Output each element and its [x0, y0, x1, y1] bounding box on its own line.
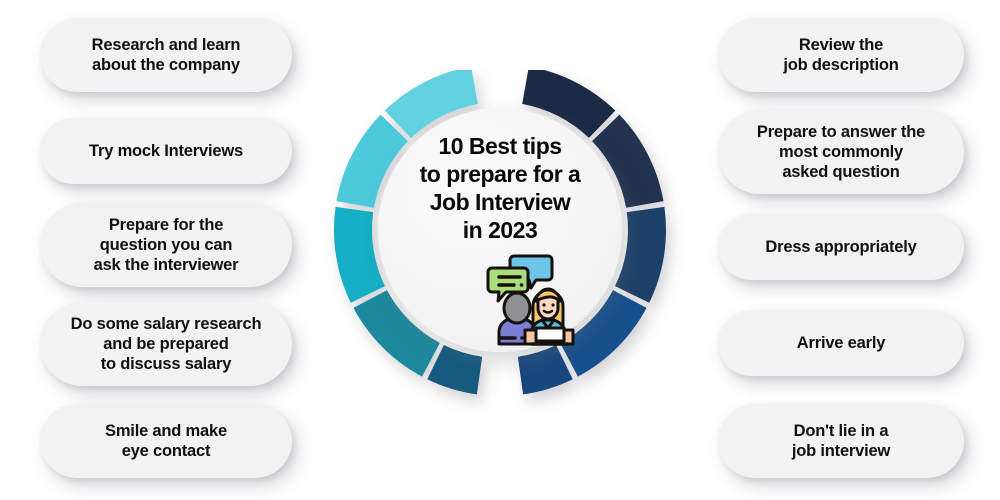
infographic-canvas: Research and learn about the company Try… [0, 0, 1000, 500]
ring-segment-6 [518, 345, 573, 394]
title-line-1: 10 Best tips [378, 132, 622, 160]
interviewer-head [504, 293, 530, 323]
tip-label: Smile and make eye contact [105, 421, 227, 462]
tip-card-left-5[interactable]: Smile and make eye contact [40, 404, 292, 478]
tip-label: Research and learn about the company [92, 35, 241, 76]
tip-label: Try mock Interviews [89, 141, 243, 161]
title-line-4: in 2023 [378, 216, 622, 244]
tip-label: Do some salary research and be prepared … [71, 314, 262, 375]
tip-label: Dress appropriately [765, 237, 916, 257]
tip-card-right-3[interactable]: Dress appropriately [718, 214, 964, 280]
title-line-2: to prepare for a [378, 160, 622, 188]
tip-card-left-4[interactable]: Do some salary research and be prepared … [40, 302, 292, 386]
tip-card-left-1[interactable]: Research and learn about the company [40, 18, 292, 92]
tip-card-right-4[interactable]: Arrive early [718, 310, 964, 376]
tip-card-left-2[interactable]: Try mock Interviews [40, 118, 292, 184]
center-wheel: 10 Best tips to prepare for a Job Interv… [300, 70, 700, 430]
ring-segment-8 [615, 207, 666, 303]
tip-label: Prepare to answer the most commonly aske… [757, 122, 925, 183]
job-interview-illustration [468, 252, 576, 348]
tip-label: Prepare for the question you can ask the… [94, 215, 239, 276]
center-title: 10 Best tips to prepare for a Job Interv… [378, 132, 622, 244]
tip-card-left-3[interactable]: Prepare for the question you can ask the… [40, 203, 292, 287]
tip-card-right-5[interactable]: Don't lie in a job interview [718, 404, 964, 478]
tip-label: Review the job description [783, 35, 898, 76]
laptop-icon [536, 328, 564, 341]
tip-label: Don't lie in a job interview [792, 421, 890, 462]
tip-card-right-1[interactable]: Review the job description [718, 18, 964, 92]
tip-label: Arrive early [797, 333, 885, 353]
ring-segment-5 [427, 345, 482, 394]
title-line-3: Job Interview [378, 188, 622, 216]
tip-card-right-2[interactable]: Prepare to answer the most commonly aske… [718, 110, 964, 194]
